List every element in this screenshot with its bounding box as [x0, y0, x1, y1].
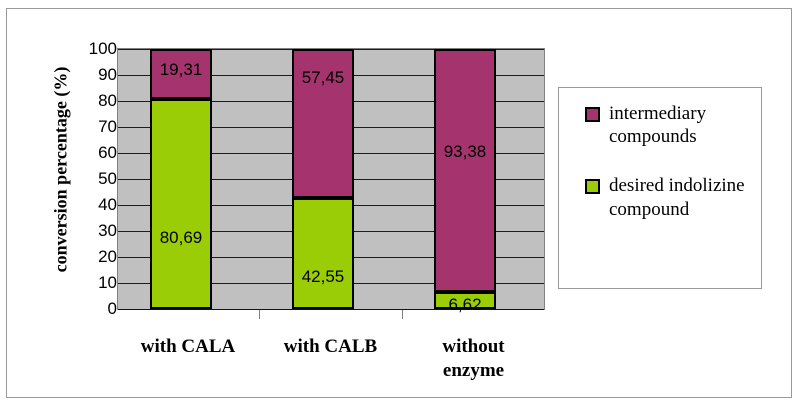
legend-entry[interactable]: intermediary compounds — [585, 102, 761, 148]
legend-color-swatch — [585, 107, 600, 122]
category-separator — [259, 310, 260, 319]
y-tick-label: 40 — [71, 196, 117, 213]
y-tick-label: 50 — [71, 170, 117, 187]
plot-area: 80,6919,3142,5557,456,6293,38 — [117, 48, 545, 310]
bar-segment-intermediary-compounds[interactable]: 57,45 — [292, 49, 354, 198]
x-axis-category-label: withoutenzyme — [402, 335, 545, 383]
y-tick-label: 100 — [71, 40, 117, 57]
bar-segment-desired-indolizine[interactable]: 42,55 — [292, 198, 354, 309]
y-tick-label: 70 — [71, 118, 117, 135]
bar-value-label: 42,55 — [302, 268, 345, 285]
y-tick-label: 20 — [71, 248, 117, 265]
legend-entry[interactable]: desired indolizine compound — [585, 174, 761, 220]
bar-group[interactable]: 6,6293,38 — [434, 49, 496, 309]
bar-segment-intermediary-compounds[interactable]: 93,38 — [434, 49, 496, 292]
legend-color-swatch — [585, 179, 600, 194]
y-tick-label: 0 — [71, 300, 117, 317]
bar-value-label: 80,69 — [160, 229, 203, 246]
chart-frame: conversion percentage (%) 10090807060504… — [6, 8, 792, 398]
bar-segment-desired-indolizine[interactable]: 80,69 — [150, 99, 212, 309]
bar-value-label: 93,38 — [444, 143, 487, 160]
bar-value-label: 6,62 — [448, 296, 481, 313]
x-axis-category-label-line: without — [402, 335, 545, 359]
bar-segment-desired-indolizine[interactable]: 6,62 — [434, 292, 496, 309]
chart-legend: intermediary compoundsdesired indolizine… — [558, 87, 762, 289]
category-separator — [402, 310, 403, 319]
y-tick-label: 80 — [71, 92, 117, 109]
x-axis-category-label-line: with CALB — [259, 335, 402, 359]
bar-value-label: 57,45 — [302, 69, 345, 86]
bar-group[interactable]: 42,5557,45 — [292, 49, 354, 309]
y-axis-ticks: 1009080706050403020100 — [61, 48, 117, 310]
bar-group[interactable]: 80,6919,31 — [150, 49, 212, 309]
bar-value-label: 19,31 — [160, 61, 203, 78]
x-axis-category-label-line: enzyme — [402, 359, 545, 383]
bar-segment-intermediary-compounds[interactable]: 19,31 — [150, 49, 212, 99]
x-axis-category-label-line: with CALA — [117, 335, 259, 359]
y-tick-label: 10 — [71, 274, 117, 291]
legend-label: intermediary compounds — [609, 102, 749, 148]
x-axis-category-label: with CALA — [117, 335, 259, 359]
legend-label: desired indolizine compound — [609, 174, 749, 220]
y-tick-label: 60 — [71, 144, 117, 161]
x-axis-category-label: with CALB — [259, 335, 402, 359]
y-tick-label: 30 — [71, 222, 117, 239]
y-tick-label: 90 — [71, 66, 117, 83]
